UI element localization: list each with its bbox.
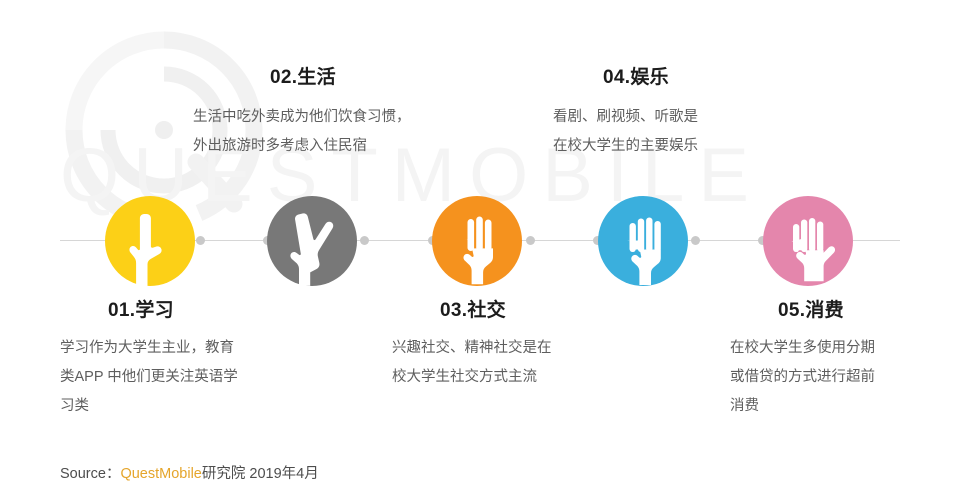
hand-five-fingers-icon [763, 196, 853, 286]
hand-one-finger-icon [105, 196, 195, 286]
step-circle-1[interactable] [105, 196, 195, 286]
step-title-4: 04.娱乐 [553, 62, 783, 89]
hand-four-fingers-icon [598, 196, 688, 286]
infographic-canvas: QUESTMOBILE [0, 0, 960, 501]
step-body-4: 看剧、刷视频、听歌是 在校大学生的主要娱乐 [553, 103, 783, 161]
step-body-1: 学习作为大学生主业，教育 类APP 中他们更关注英语学 习类 [60, 334, 305, 421]
step-title-2: 02.生活 [193, 62, 433, 89]
timeline-node-7 [691, 236, 700, 245]
step-circle-2[interactable] [267, 196, 357, 286]
timeline-node-5 [526, 236, 535, 245]
hand-two-fingers-icon [267, 196, 357, 286]
step-title-3: 03.社交 [392, 295, 637, 322]
step-title-1: 01.学习 [60, 295, 305, 322]
step-body-2: 生活中吃外卖成为他们饮食习惯， 外出旅游时多考虑入住民宿 [193, 103, 433, 161]
timeline-node-3 [360, 236, 369, 245]
source-suffix: 研究院 2019年4月 [202, 466, 319, 482]
source-line: Source：QuestMobile研究院 2019年4月 [60, 462, 319, 483]
step-text-block-4: 04.娱乐 看剧、刷视频、听歌是 在校大学生的主要娱乐 [553, 62, 783, 161]
step-body-5: 在校大学生多使用分期 或借贷的方式进行超前 消费 [730, 334, 960, 421]
timeline-node-1 [196, 236, 205, 245]
step-text-block-5: 05.消费 在校大学生多使用分期 或借贷的方式进行超前 消费 [730, 295, 960, 421]
source-label: Source： [60, 466, 120, 482]
hand-three-fingers-icon [432, 196, 522, 286]
step-title-5: 05.消费 [730, 295, 960, 322]
step-body-3: 兴趣社交、精神社交是在 校大学生社交方式主流 [392, 334, 637, 392]
step-circle-3[interactable] [432, 196, 522, 286]
step-text-block-1: 01.学习 学习作为大学生主业，教育 类APP 中他们更关注英语学 习类 [60, 295, 305, 421]
step-circle-4[interactable] [598, 196, 688, 286]
step-text-block-3: 03.社交 兴趣社交、精神社交是在 校大学生社交方式主流 [392, 295, 637, 392]
source-brand: QuestMobile [120, 466, 201, 482]
step-circle-5[interactable] [763, 196, 853, 286]
step-text-block-2: 02.生活 生活中吃外卖成为他们饮食习惯， 外出旅游时多考虑入住民宿 [193, 62, 433, 161]
